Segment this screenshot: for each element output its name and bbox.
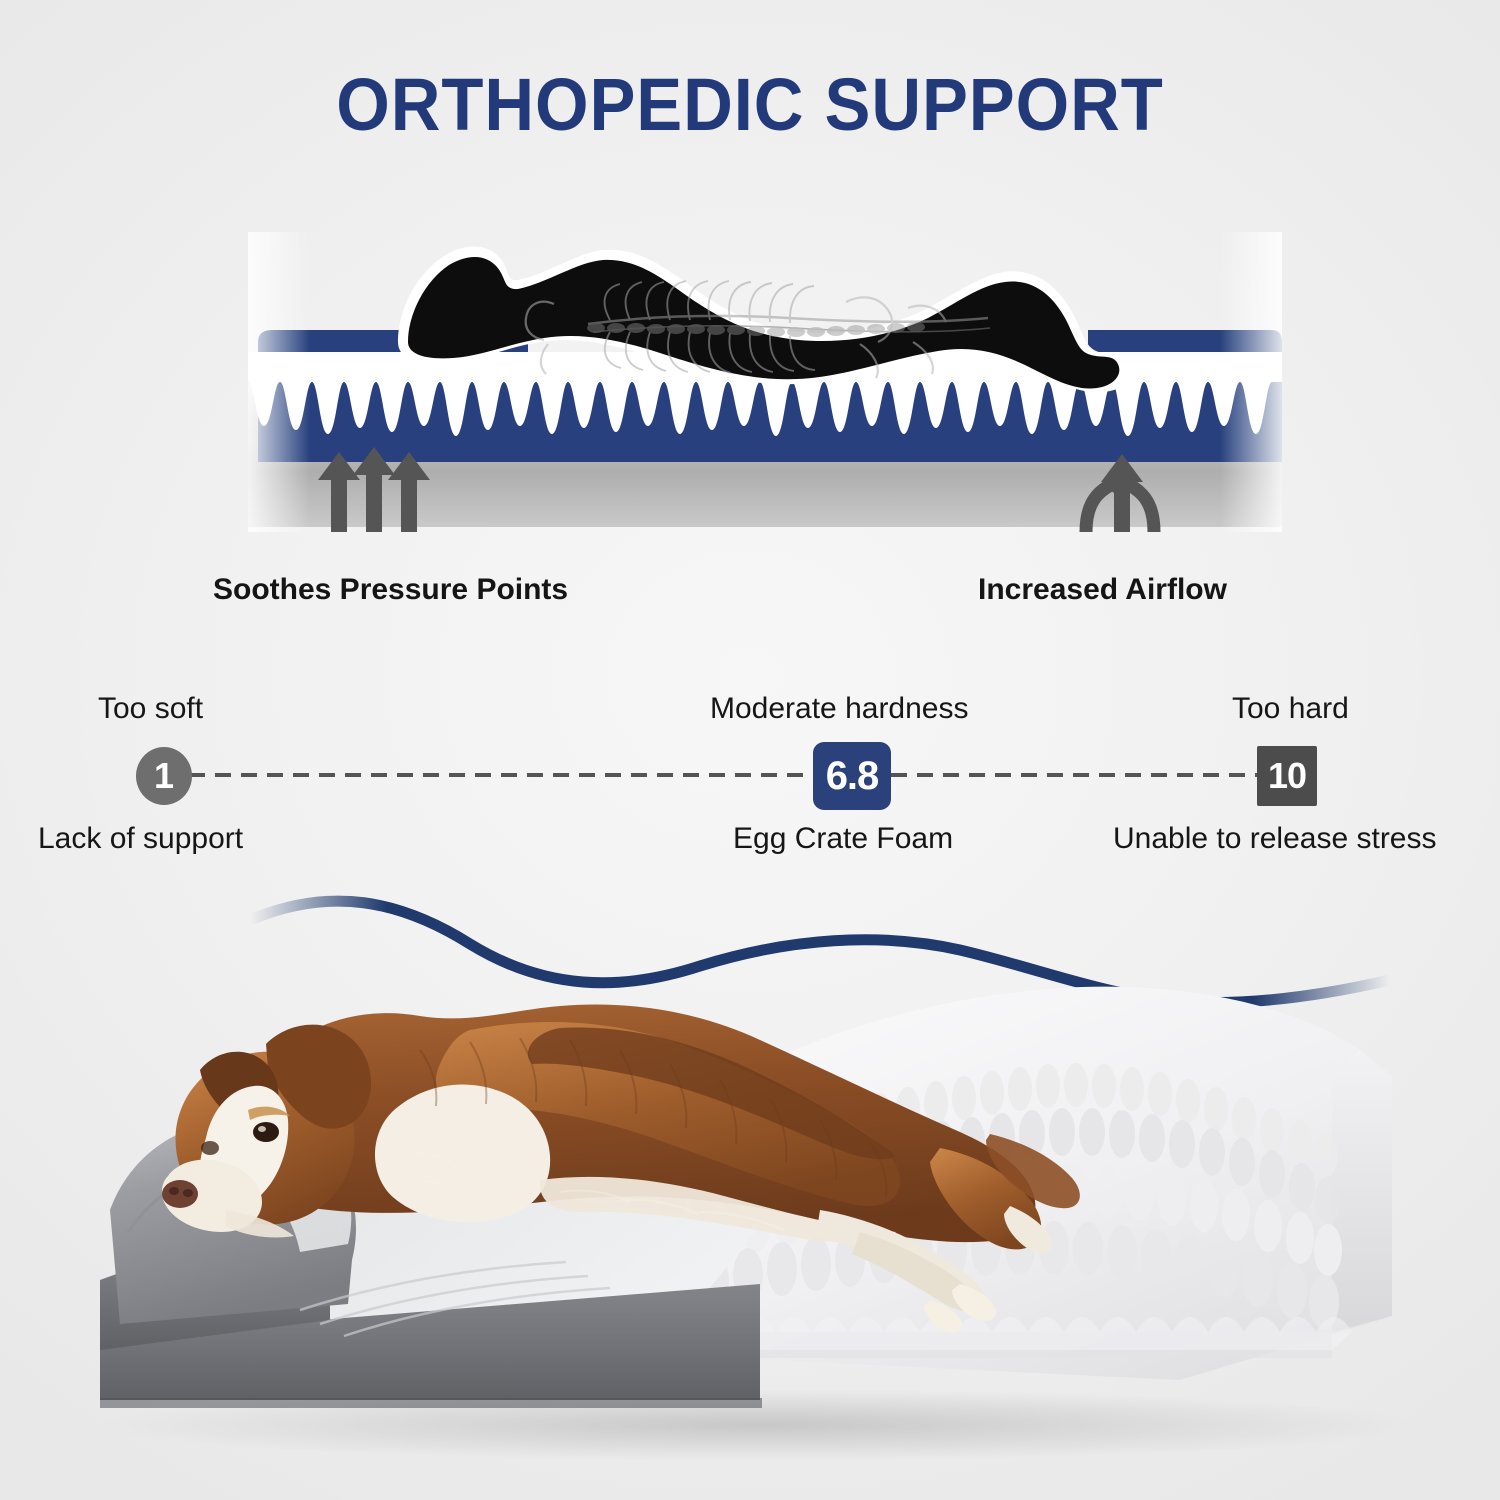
hero-photo-svg [0,880,1500,1500]
scale-top-label-3: Too hard [1232,692,1349,726]
scale-top-label-1: Too soft [98,692,203,726]
hardness-scale: Too soft Lack of support 1 Moderate hard… [0,680,1500,870]
foam-diagram-svg [248,232,1282,532]
foam-cross-section-diagram [248,232,1282,532]
navy-accent-wave [250,901,1390,1003]
scale-marker-10[interactable]: 10 [1257,746,1317,806]
dog-eye [253,1122,279,1142]
scale-bottom-label-3: Unable to release stress [1113,822,1437,856]
scale-dashed-track [163,773,1287,777]
increased-airflow-label: Increased Airflow [978,573,1227,607]
scale-top-label-2: Moderate hardness [710,692,969,726]
scale-marker-1[interactable]: 1 [136,747,192,805]
soothes-pressure-points-label: Soothes Pressure Points [213,573,568,607]
scale-bottom-label-2: Egg Crate Foam [733,822,953,856]
page-title: ORTHOPEDIC SUPPORT [53,62,1448,147]
hero-product-photo [0,880,1500,1500]
scale-marker-68[interactable]: 6.8 [813,742,891,810]
scale-bottom-label-1: Lack of support [38,822,243,856]
